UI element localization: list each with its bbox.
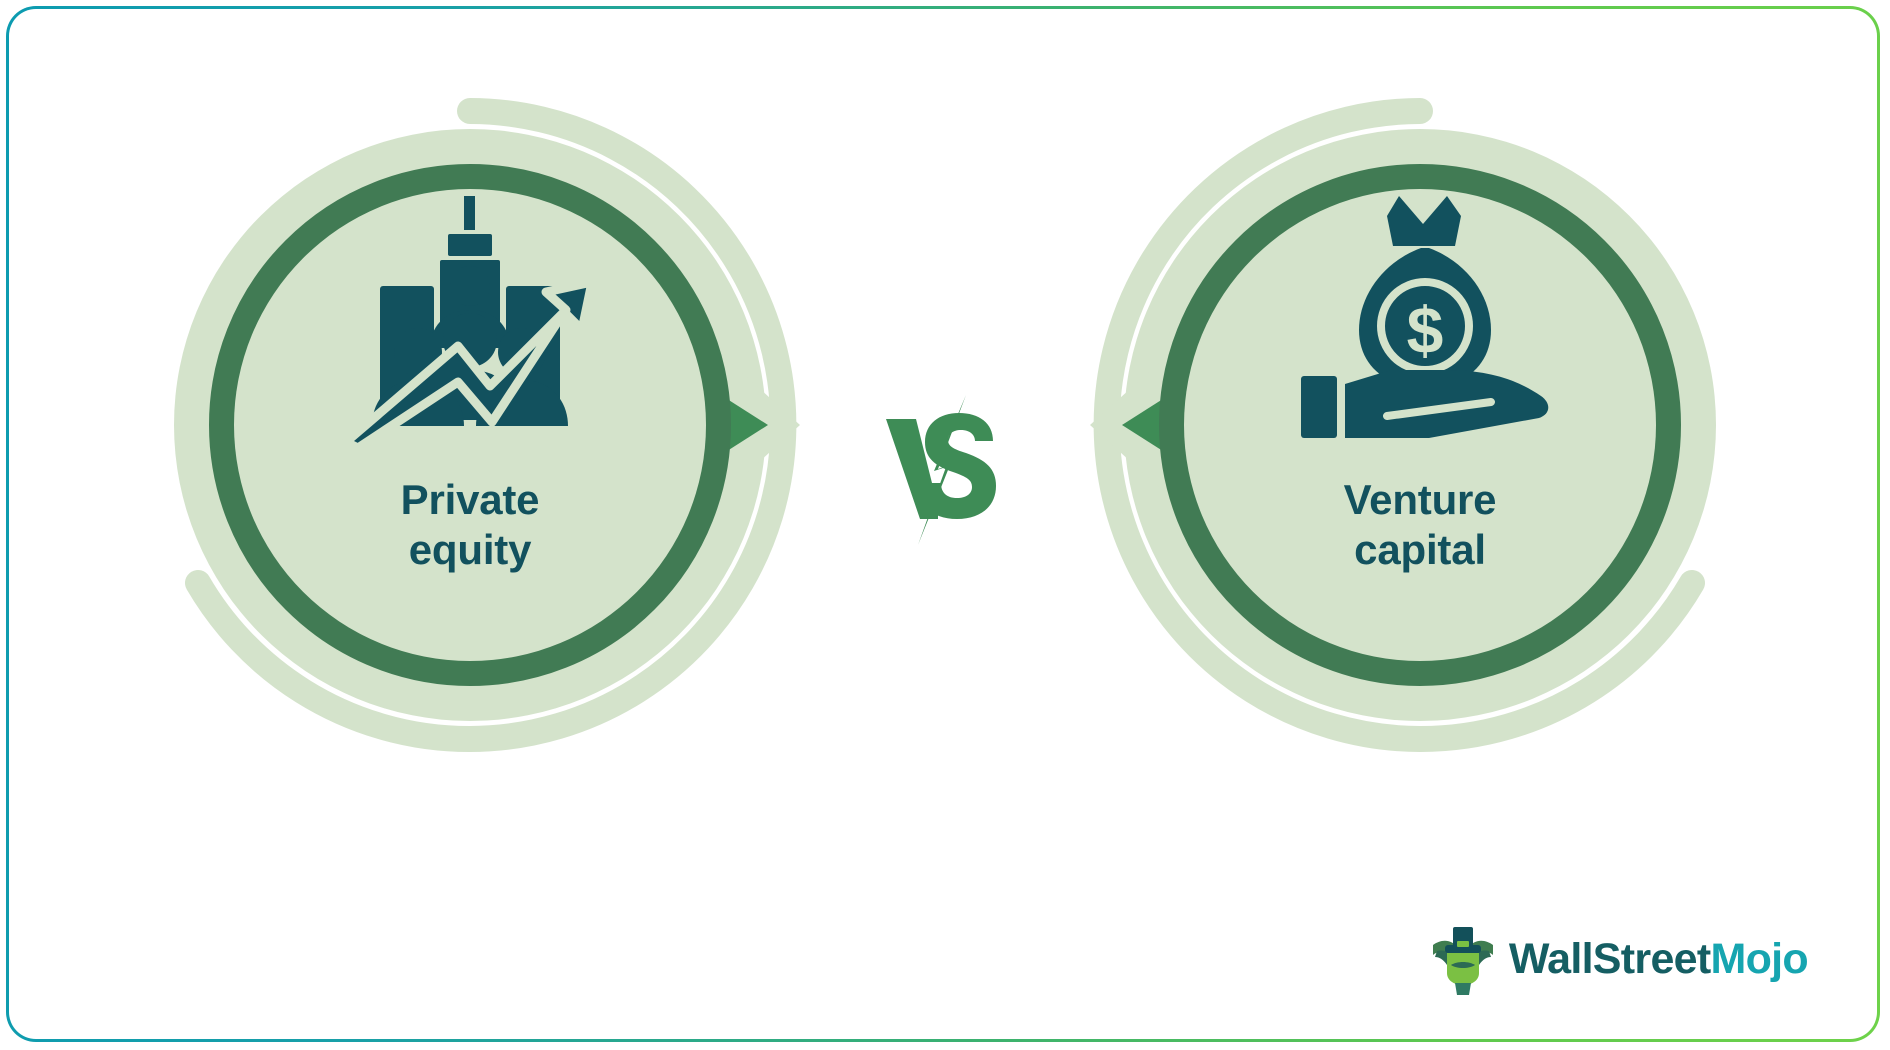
forearm-icon [1301, 376, 1337, 438]
people-growth-chart-icon [340, 190, 600, 450]
comparison-item-right[interactable]: $ Venture capital [1090, 95, 1750, 755]
versus-divider [880, 395, 1010, 545]
content-stage: Private equity [0, 0, 1890, 1050]
right-badge-label: Venture capital [1090, 475, 1750, 574]
logo-wordmark: WallStreetMojo [1509, 935, 1808, 984]
comparison-item-left[interactable]: Private equity [140, 95, 800, 755]
money-bag-tie-icon [1387, 196, 1461, 246]
svg-text:$: $ [1407, 293, 1444, 367]
money-bag-in-hand-icon: $ [1295, 190, 1555, 450]
logo-text-primary: WallStreet [1509, 935, 1711, 983]
wallstreetmojo-logo[interactable]: WallStreetMojo [1431, 923, 1808, 995]
logo-text-accent: Mojo [1711, 935, 1809, 983]
left-badge-label: Private equity [140, 475, 800, 574]
wallstreetmojo-mascot-icon [1431, 923, 1495, 995]
infographic-canvas: Private equity [0, 0, 1890, 1050]
versus-lightning-icon [880, 395, 1010, 545]
